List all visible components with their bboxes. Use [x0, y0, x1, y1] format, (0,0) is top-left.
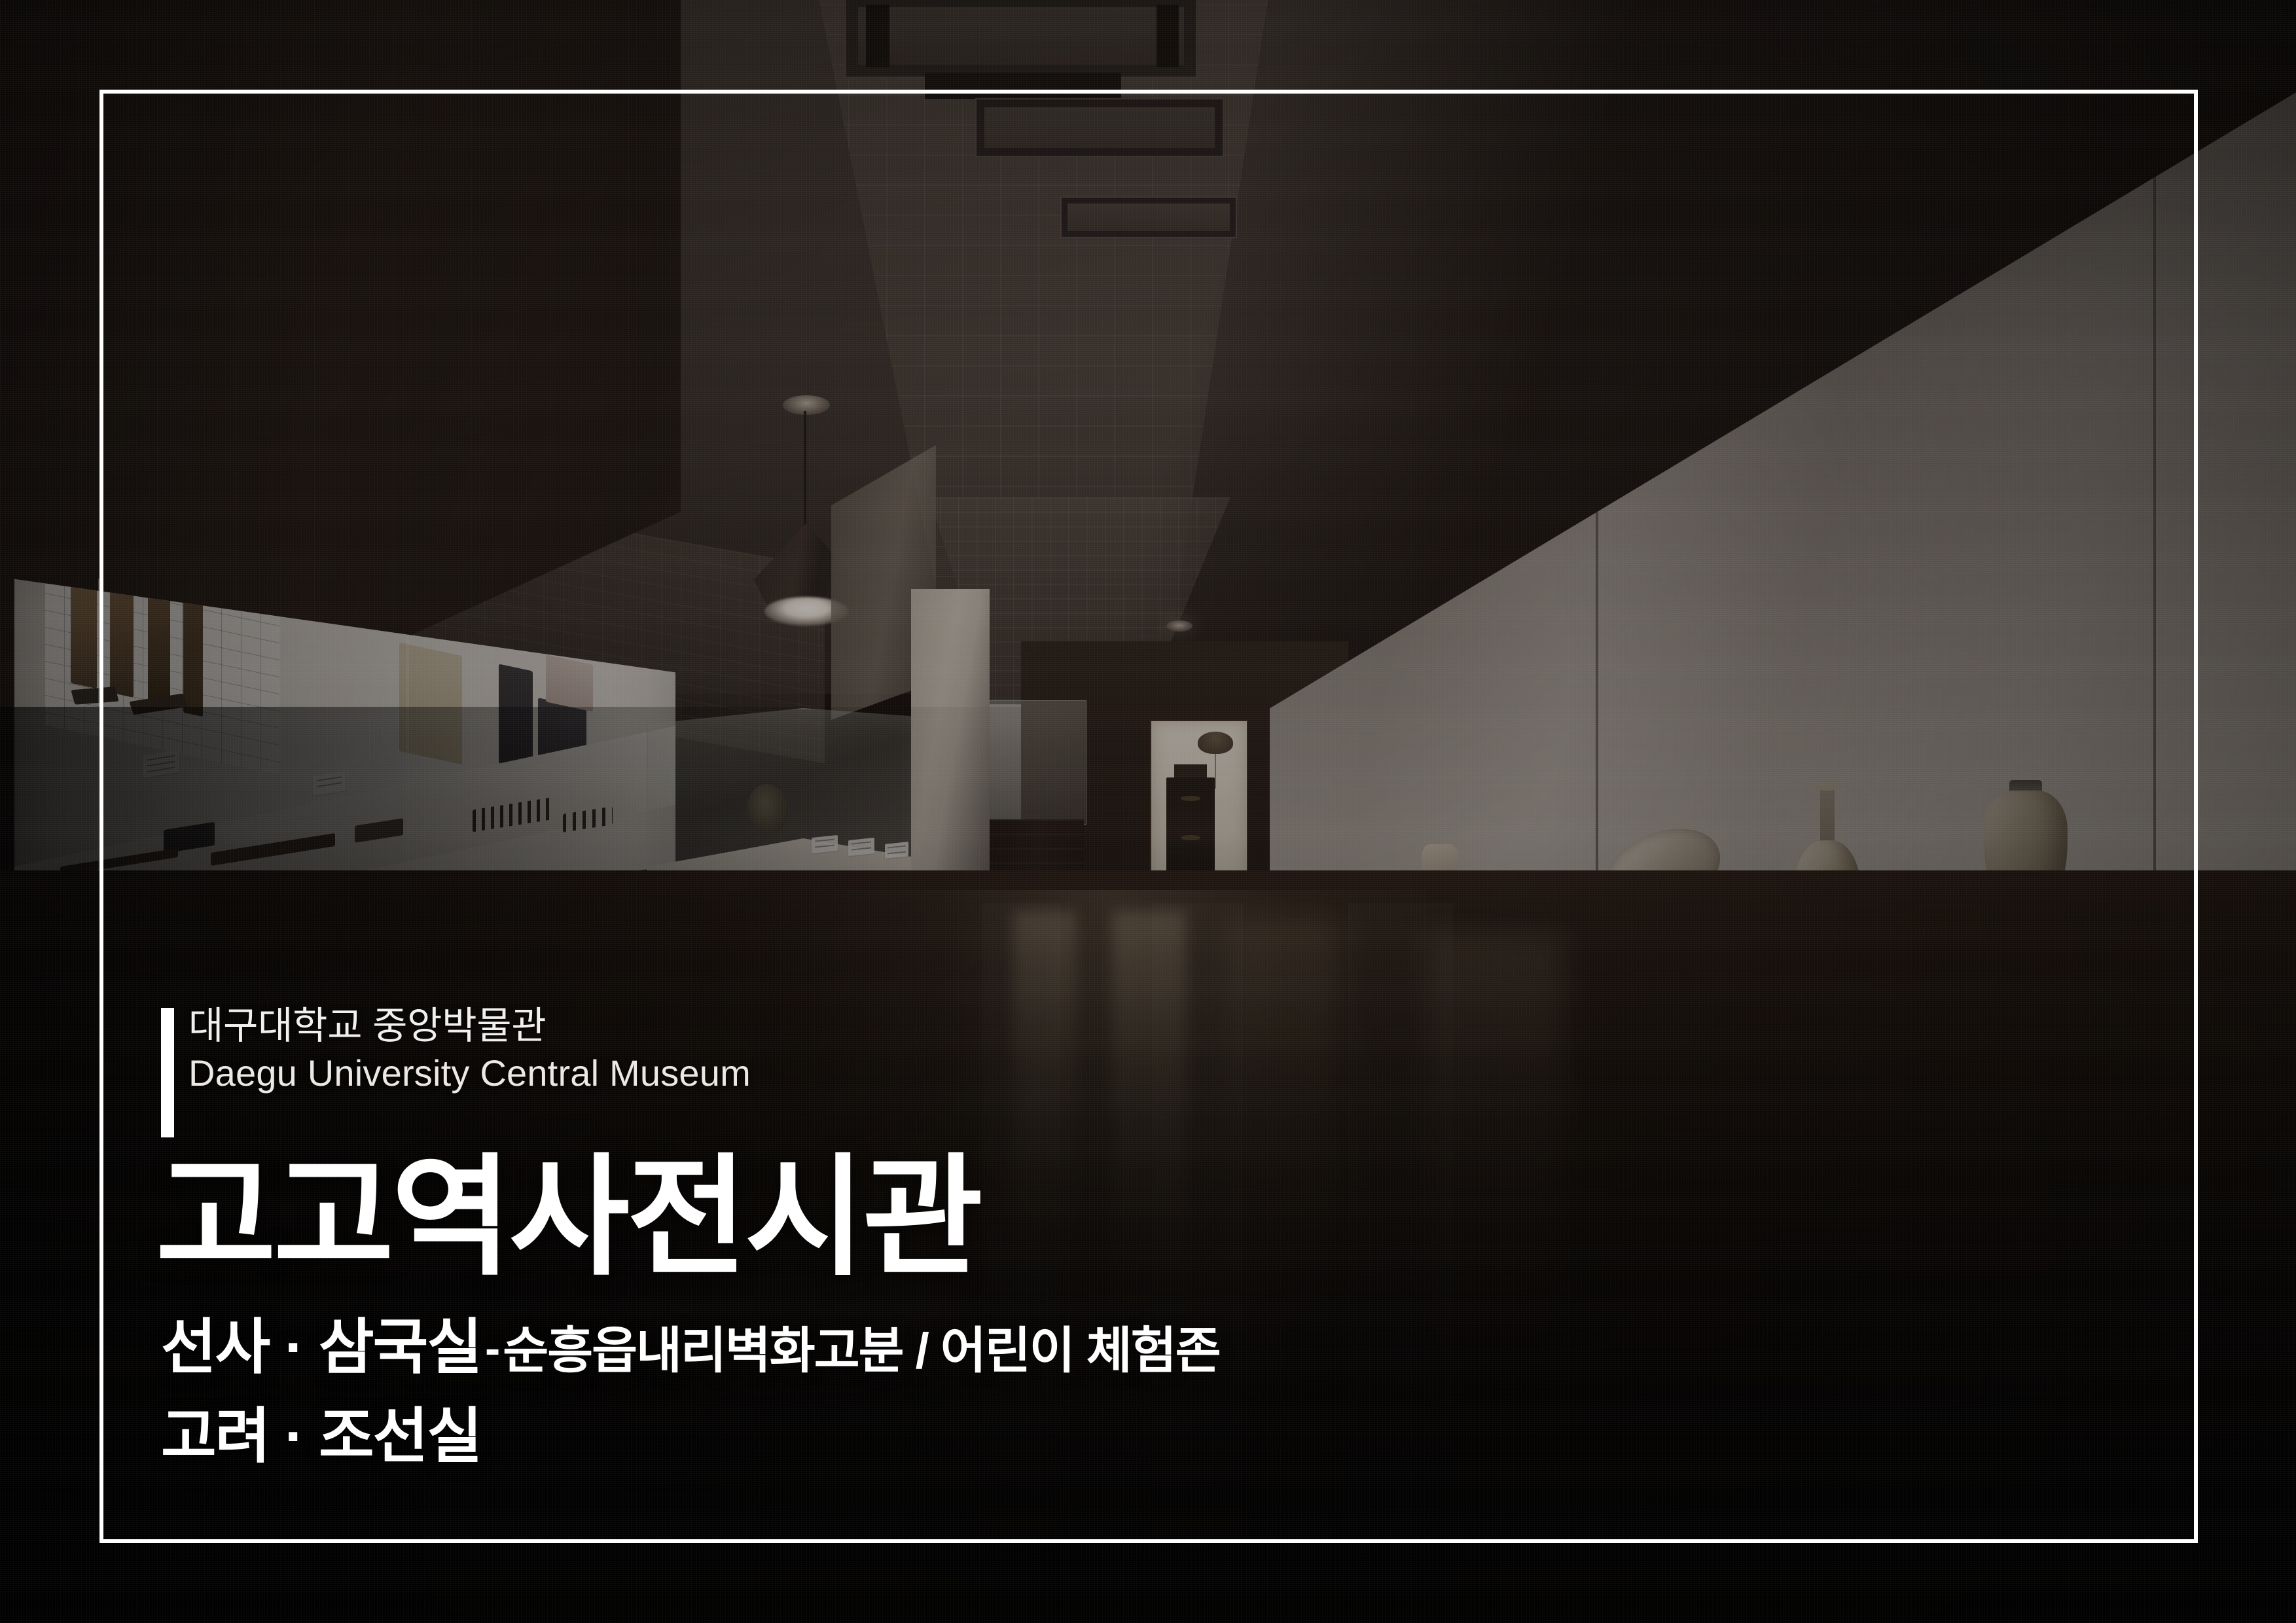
organization-name-english: Daegu University Central Museum [188, 1052, 1732, 1095]
exhibit-rooms-line-2: 고려 · 조선실 [161, 1406, 1732, 1467]
exhibit-room-detail: 순흥읍내리벽화고분 / 어린이 체험존 [503, 1323, 1219, 1379]
poster-text-overlay: 대구대학교 중앙박물관 Daegu University Central Mus… [161, 1005, 1732, 1467]
page-title: 고고역사전시관 [156, 1152, 1732, 1283]
organization-name-korean: 대구대학교 중앙박물관 [188, 1005, 1732, 1048]
organization-block: 대구대학교 중앙박물관 Daegu University Central Mus… [161, 1005, 1732, 1095]
exhibit-room-prehistory-threekingdoms: 선사 · 삼국실 [161, 1314, 481, 1381]
subtitle-dash: - [481, 1323, 503, 1374]
accent-bar [161, 1008, 174, 1137]
exhibit-rooms-line-1: 선사 · 삼국실-순흥읍내리벽화고분 / 어린이 체험존 [161, 1317, 1732, 1378]
poster-canvas: 대구대학교 중앙박물관 Daegu University Central Mus… [0, 0, 2296, 1623]
